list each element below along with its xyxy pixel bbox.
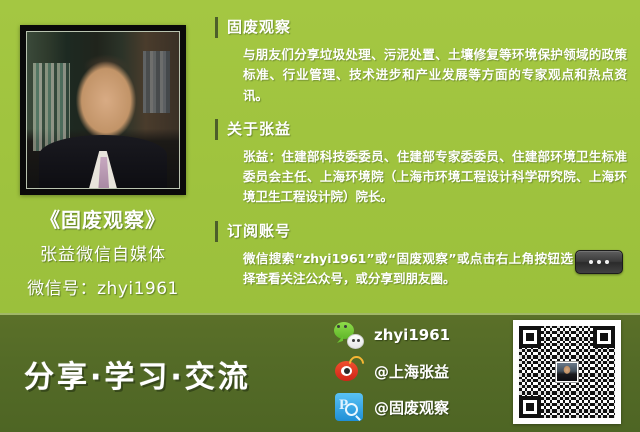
dot-icon	[605, 260, 609, 264]
section-body: 微信搜索“zhyi1961”或“固废观察”或点击右上角按钮选择查看关注公众号，或…	[243, 249, 573, 290]
qr-finder-icon	[519, 396, 541, 418]
section-header: 固废观察	[215, 16, 627, 40]
section-bar-icon	[215, 17, 218, 38]
wechat-icon	[334, 320, 364, 350]
section-bar-icon	[215, 221, 218, 242]
social-links: zhyi1961 @上海张益 P @固废观察	[334, 318, 494, 426]
caption-wechat-id: 微信号：zhyi1961	[0, 274, 206, 299]
sections-column: 固废观察 与朋友们分享垃圾处理、污泥处置、土壤修复等环境保护领域的政策标准、行业…	[215, 16, 627, 301]
qr-finder-icon	[593, 326, 615, 348]
bubble-shape	[347, 334, 364, 349]
eye-dot	[337, 325, 340, 328]
section-header: 关于张益	[215, 118, 627, 142]
bookshelf-left	[33, 63, 69, 150]
section-about-account: 固废观察 与朋友们分享垃圾处理、污泥处置、土壤修复等环境保护领域的政策标准、行业…	[215, 16, 627, 106]
section-bar-icon	[215, 119, 218, 140]
bookshelf-right	[143, 51, 170, 113]
dot-icon	[589, 260, 593, 264]
section-about-person: 关于张益 张益：住建部科技委委员、住建部专家委委员、住建部环境卫生标准委员会主任…	[215, 118, 627, 208]
section-title: 固废观察	[227, 18, 291, 36]
weibo-icon	[334, 356, 364, 386]
caption-title: 《固废观察》	[0, 204, 206, 233]
eye-dot	[357, 339, 360, 342]
section-title: 关于张益	[227, 120, 291, 138]
section-title: 订阅账号	[227, 222, 291, 240]
section-header: 订阅账号	[215, 220, 627, 244]
wechat-profile-card: 《固废观察》 张益微信自媒体 微信号：zhyi1961 固废观察 与朋友们分享垃…	[0, 0, 640, 432]
eye-dot	[344, 325, 347, 328]
qr-code-pattern	[519, 326, 615, 418]
qr-center-avatar	[555, 361, 579, 383]
footer-separator	[0, 313, 640, 315]
social-label-wechat: zhyi1961	[374, 326, 450, 344]
avatar	[557, 363, 577, 381]
dot-icon	[597, 260, 601, 264]
more-options-button[interactable]	[575, 250, 623, 274]
portrait-frame	[20, 25, 186, 195]
section-subscribe: 订阅账号 微信搜索“zhyi1961”或“固废观察”或点击右上角按钮选择查看关注…	[215, 220, 627, 290]
footer-slogan: 分享·学习·交流	[24, 352, 251, 396]
social-label-weibo: @上海张益	[374, 361, 449, 382]
portrait-photo	[27, 32, 179, 188]
section-body: 张益：住建部科技委委员、住建部专家委委员、住建部环境卫生标准委员会主任、上海环境…	[243, 147, 627, 208]
qr-finder-icon	[519, 326, 541, 348]
eye-dot	[352, 339, 355, 342]
search-icon: P	[334, 392, 364, 422]
social-label-search: @固废观察	[374, 397, 449, 418]
social-row-wechat[interactable]: zhyi1961	[334, 318, 494, 352]
social-row-weibo[interactable]: @上海张益	[334, 354, 494, 388]
qr-code[interactable]	[513, 320, 621, 424]
portrait-inner-border	[26, 31, 180, 189]
social-row-search[interactable]: P @固废观察	[334, 390, 494, 424]
caption-subtitle: 张益微信自媒体	[0, 240, 206, 265]
section-body: 与朋友们分享垃圾处理、污泥处置、土壤修复等环境保护领域的政策标准、行业管理、技术…	[243, 45, 627, 106]
